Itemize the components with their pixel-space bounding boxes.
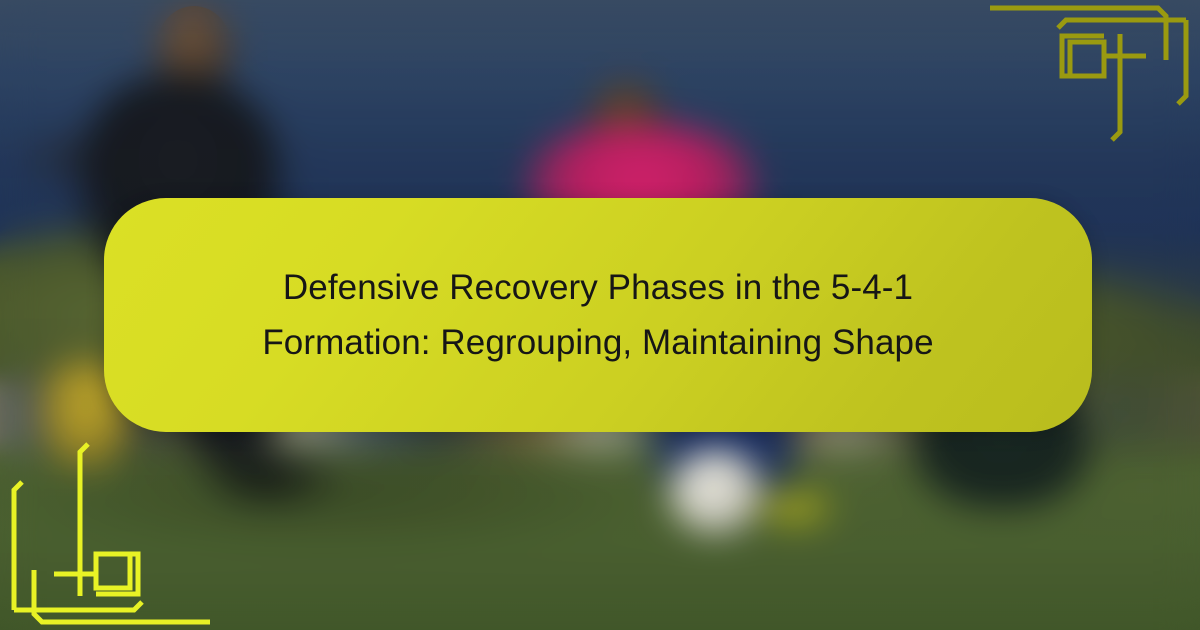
- social-card-canvas: Defensive Recovery Phases in the 5-4-1 F…: [0, 0, 1200, 630]
- page-title: Defensive Recovery Phases in the 5-4-1 F…: [218, 260, 978, 371]
- title-card: Defensive Recovery Phases in the 5-4-1 F…: [104, 198, 1092, 432]
